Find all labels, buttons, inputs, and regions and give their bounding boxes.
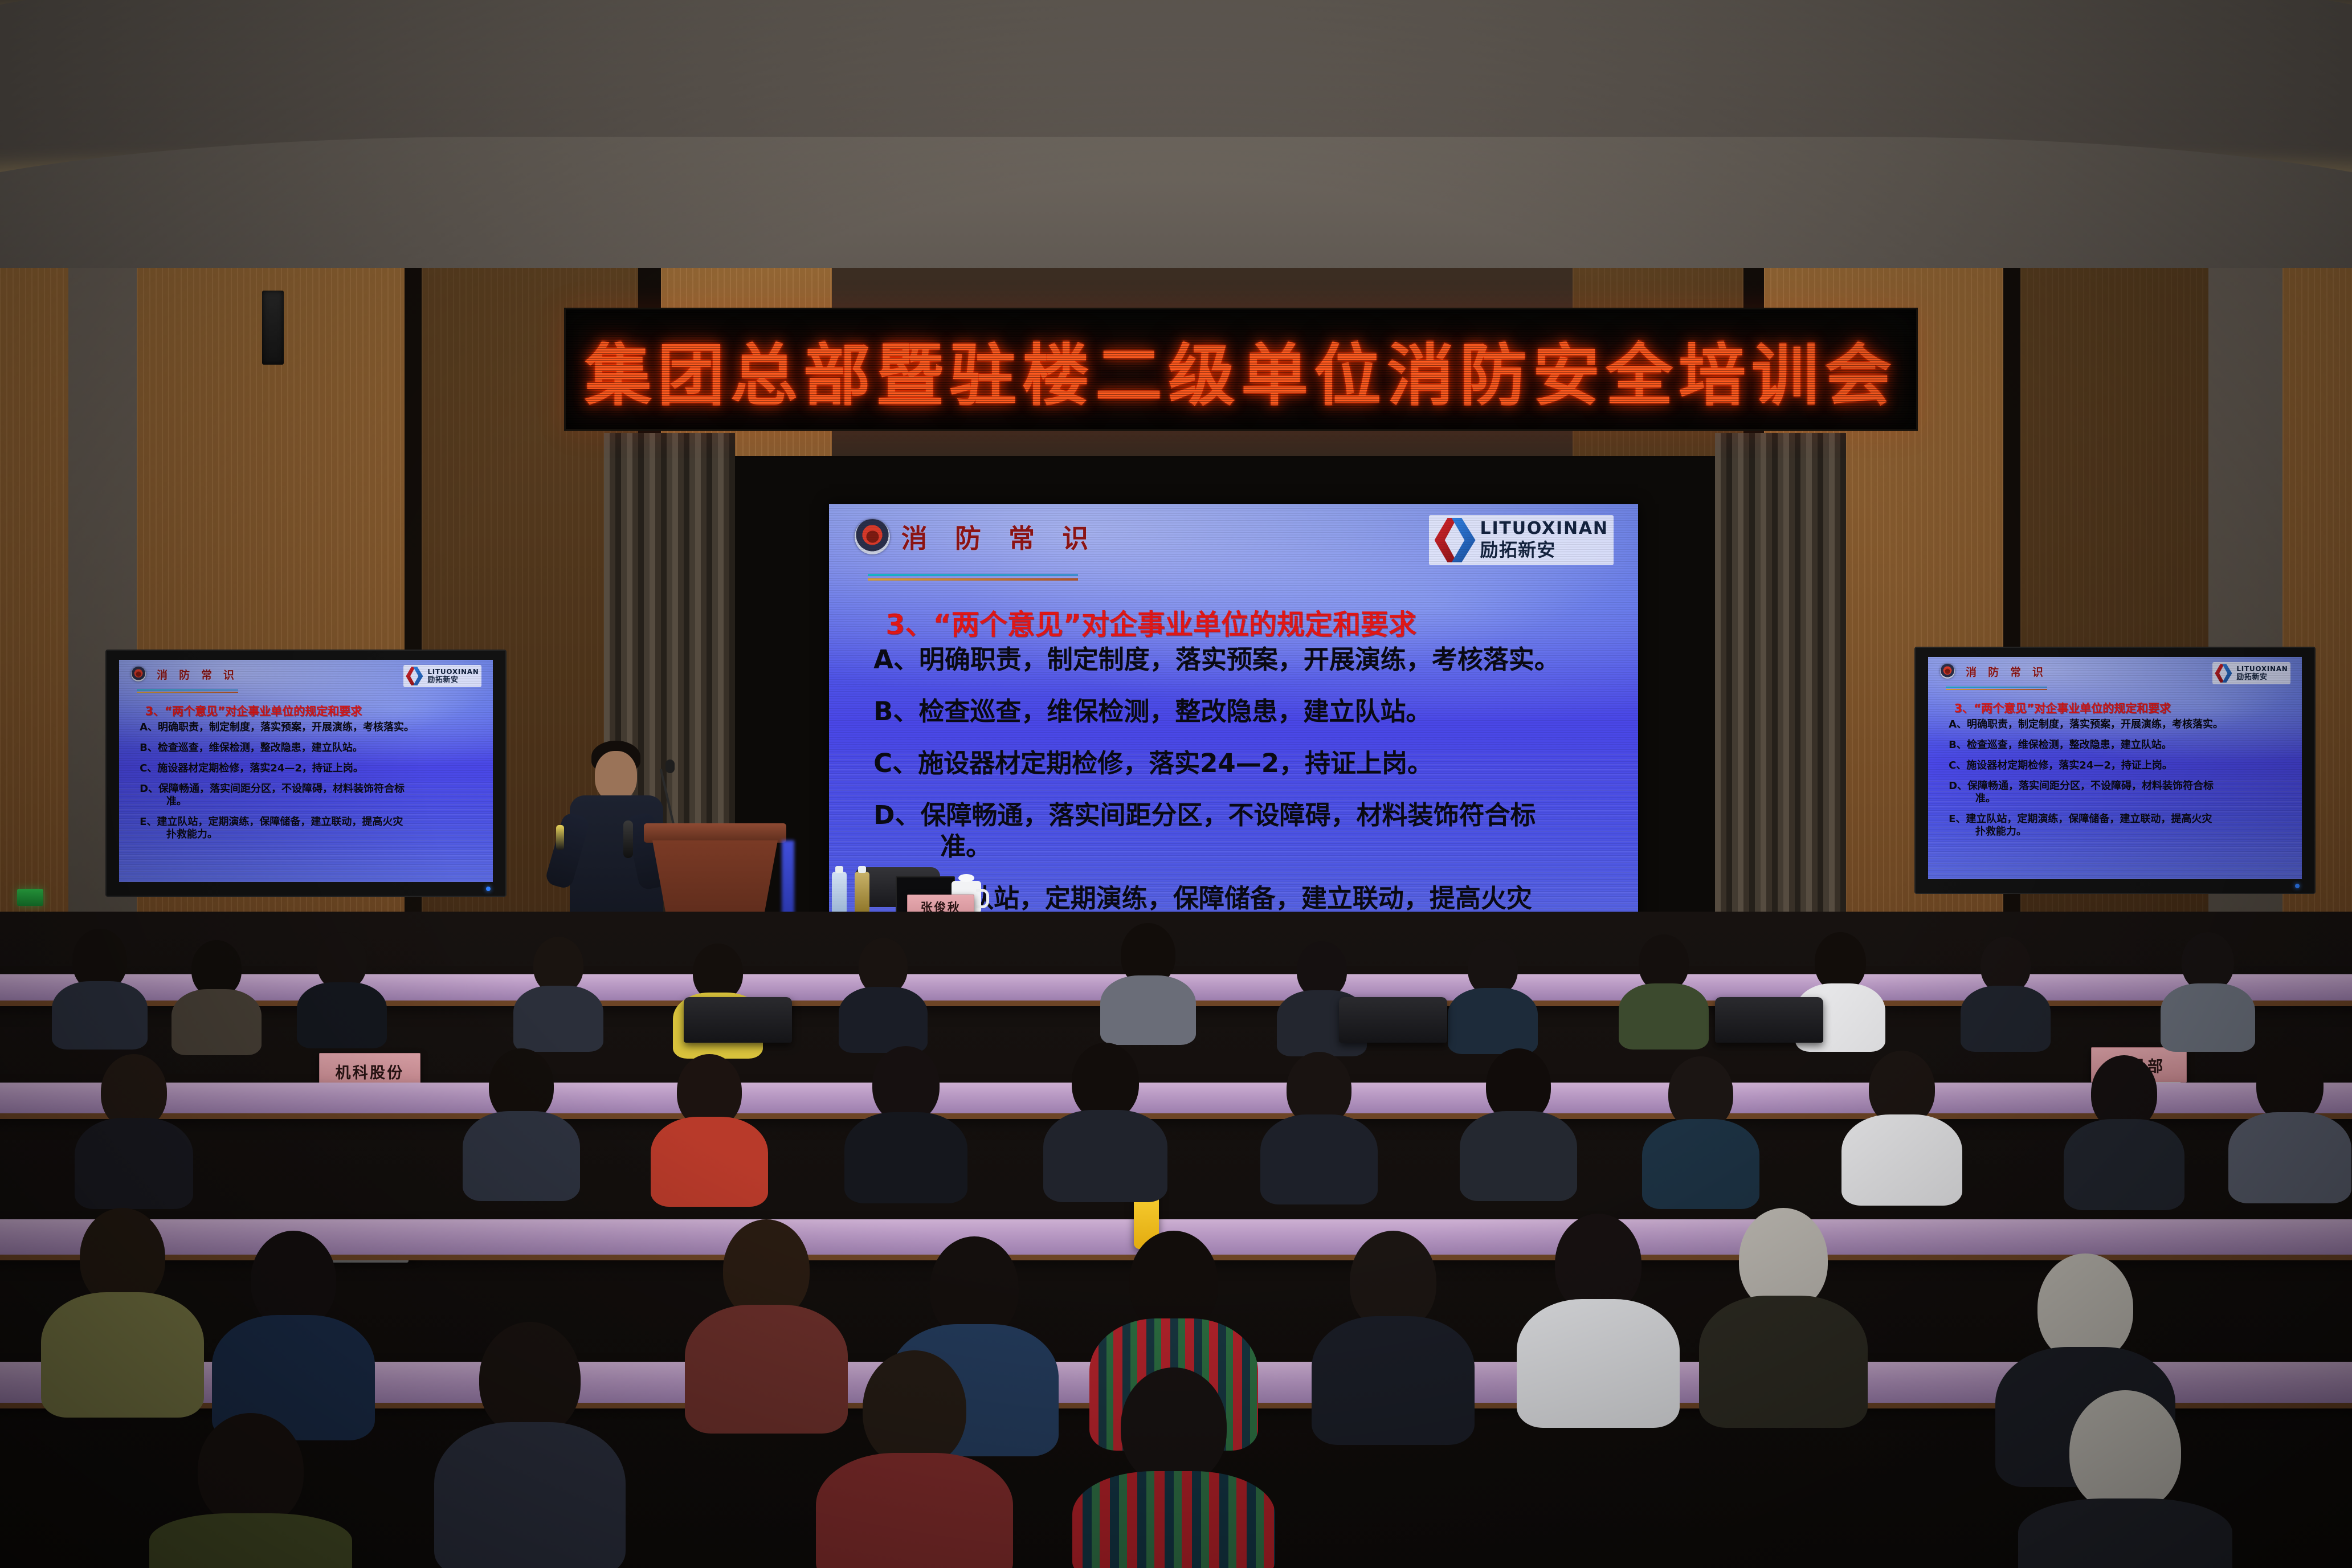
lituoxinan-logo-icon xyxy=(2215,664,2232,683)
slide-title: 3、“两个意见”对企事业单位的规定和要求 xyxy=(885,602,1416,643)
logo-chinese-text: 励拓新安 xyxy=(1480,540,1608,560)
attendee xyxy=(1960,937,2051,1045)
attendee xyxy=(1459,1048,1578,1198)
stage-curtain-right xyxy=(1715,433,1846,974)
attendee xyxy=(2159,932,2256,1046)
bullet-text: 检查巡查，维保检测，整改隐患，建立队站。 xyxy=(1967,739,2172,751)
led-banner: 集团总部暨驻楼二级单位消防安全培训会 xyxy=(564,308,1918,431)
slide-header-title: 消 防 常 识 xyxy=(157,667,238,682)
chair xyxy=(684,997,792,1043)
attendee xyxy=(1641,1056,1761,1206)
bullet-continuation: 扑救能力。 xyxy=(1975,826,2027,838)
attendee xyxy=(1447,939,1538,1047)
attendee xyxy=(1071,1367,1276,1568)
bullet-text: 检查巡查，维保检测，整改隐患，建立队站。 xyxy=(158,742,363,754)
attendee xyxy=(40,1208,205,1413)
attendee xyxy=(1698,1208,1869,1424)
bullet-label: C、 xyxy=(1949,759,1966,771)
led-banner-text: 集团总部暨驻楼二级单位消防安全培训会 xyxy=(585,321,1897,418)
attendee xyxy=(1259,1052,1379,1201)
desk-row xyxy=(0,1083,2352,1113)
attendee xyxy=(171,940,262,1048)
bullet-text: 明确职责，制定制度，落实预案，开展演练，考核落实。 xyxy=(158,721,414,733)
bullet-text: 施设器材定期检修，落实24—2，持证上岗。 xyxy=(1966,759,2173,771)
desk-placard-text: 机科股份 xyxy=(336,1060,405,1083)
chair xyxy=(1339,997,1447,1043)
bullet-label: E、 xyxy=(1949,813,1966,825)
laser-pointer-icon xyxy=(556,825,564,850)
chair xyxy=(1715,997,1823,1043)
gooseneck-microphone-icon xyxy=(665,759,675,773)
bullet-label: B、 xyxy=(873,696,918,726)
bullet-label: E、 xyxy=(140,816,157,828)
attendee xyxy=(2228,1046,2352,1200)
lituoxinan-logo-icon xyxy=(406,667,423,685)
attendee xyxy=(1100,923,1197,1043)
lituoxinan-logo-icon xyxy=(1435,518,1476,562)
bullet-label: C、 xyxy=(873,748,918,778)
attendee xyxy=(462,1048,581,1197)
attendee xyxy=(650,1054,769,1202)
slide-header-title: 消 防 常 识 xyxy=(901,518,1098,556)
audience-area: 机科股份 战投部 群部 xyxy=(0,912,2352,1568)
company-logo: LITUOXINAN 励拓新安 xyxy=(403,665,482,687)
bullet-text: 明确职责，制定制度，落实预案，开展演练，考核落实。 xyxy=(1967,718,2223,730)
handheld-microphone-icon xyxy=(623,820,633,858)
presenter-head xyxy=(595,751,637,801)
slide-left: 消 防 常 识 LITUOXINAN 励拓新安 3、“两个意见”对企事业单位的规… xyxy=(119,660,493,882)
slide-body: A、明确职责，制定制度，落实预案，开展演练，考核落实。 B、检查巡查，维保检测，… xyxy=(1949,720,2287,837)
bullet-text: 建立队站，定期演练，保障储备，建立联动，提高火灾 xyxy=(157,816,403,828)
bullet-label: B、 xyxy=(140,742,158,754)
logo-english-text: LITUOXINAN xyxy=(427,668,479,675)
company-logo: LITUOXINAN 励拓新安 xyxy=(2212,662,2291,684)
bullet-text: 保障畅通，落实间距分区，不设障碍，材料装饰符合标 xyxy=(1967,780,2214,792)
conference-room-scene: 集团总部暨驻楼二级单位消防安全培训会 消 防 常 识 LITUOXINAN 励拓… xyxy=(0,0,2352,1568)
logo-english-text: LITUOXINAN xyxy=(1480,520,1608,537)
bullet-text: 保障畅通，落实间距分区，不设障碍，材料装饰符合标 xyxy=(158,783,405,795)
bullet-label: A、 xyxy=(140,721,158,733)
bullet-label: D、 xyxy=(873,800,920,830)
attendee xyxy=(1516,1214,1681,1424)
attendee xyxy=(148,1413,353,1568)
attendee xyxy=(433,1322,627,1568)
fire-service-emblem-icon xyxy=(1940,664,1955,679)
bullet-text: 保障畅通，落实间距分区，不设障碍，材料装饰符合标 xyxy=(920,800,1536,830)
attendee xyxy=(51,929,148,1043)
tea-jar xyxy=(855,872,869,914)
wall-speaker xyxy=(262,291,284,365)
bullet-text: 建立队站，定期演练，保障储备，建立联动，提高火灾 xyxy=(1966,813,2212,825)
attendee xyxy=(1840,1051,1963,1202)
bullet-label: A、 xyxy=(873,644,919,675)
company-logo: LITUOXINAN 励拓新安 xyxy=(1429,515,1614,565)
slide-body: A、明确职责，制定制度，落实预案，开展演练，考核落实。 B、检查巡查，维保检测，… xyxy=(140,722,478,840)
attendee xyxy=(843,1046,969,1200)
logo-chinese-text: 励拓新安 xyxy=(427,676,479,684)
attendee xyxy=(2017,1390,2233,1568)
bullet-continuation: 准。 xyxy=(1975,793,1996,805)
attendee xyxy=(1310,1231,1476,1442)
monitor-power-led xyxy=(2295,884,2300,888)
desk-row-front xyxy=(0,1113,2352,1143)
bullet-continuation: 准。 xyxy=(166,795,187,807)
bullet-continuation: 准。 xyxy=(940,831,991,861)
attendee xyxy=(211,1231,376,1436)
bullet-label: D、 xyxy=(140,783,158,795)
bullet-text: 施设器材定期检修，落实24—2，持证上岗。 xyxy=(918,748,1433,778)
logo-chinese-text: 励拓新安 xyxy=(2236,673,2288,681)
bullet-label: D、 xyxy=(1949,780,1967,792)
exit-sign-icon xyxy=(17,889,43,906)
attendee xyxy=(513,937,604,1045)
attendee xyxy=(74,1054,194,1202)
slide-title: 3、“两个意见”对企事业单位的规定和要求 xyxy=(1954,699,2171,716)
attendee xyxy=(1043,1043,1168,1199)
bullet-continuation: 扑救能力。 xyxy=(166,828,218,840)
attendee xyxy=(296,932,387,1040)
slide-header-title: 消 防 常 识 xyxy=(1966,664,2047,679)
right-display-monitor[interactable]: 消 防 常 识 LITUOXINAN 励拓新安 3、“两个意见”对企事业单位的规… xyxy=(1914,647,2316,894)
monitor-power-led xyxy=(486,887,491,891)
attendee xyxy=(1618,934,1709,1043)
attendee xyxy=(815,1350,1014,1568)
attendee xyxy=(838,938,929,1046)
bullet-text: 检查巡查，维保检测，整改隐患，建立队站。 xyxy=(918,696,1431,726)
water-bottle xyxy=(832,872,847,914)
fire-service-emblem-icon xyxy=(855,519,890,554)
left-display-monitor[interactable]: 消 防 常 识 LITUOXINAN 励拓新安 3、“两个意见”对企事业单位的规… xyxy=(105,650,507,897)
bullet-text: 明确职责，制定制度，落实预案，开展演练，考核落实。 xyxy=(919,644,1560,675)
slide-right: 消 防 常 识 LITUOXINAN 励拓新安 3、“两个意见”对企事业单位的规… xyxy=(1928,657,2302,879)
attendee xyxy=(2063,1055,2185,1207)
slide-title: 3、“两个意见”对企事业单位的规定和要求 xyxy=(145,702,362,718)
slide-header: 消 防 常 识 xyxy=(855,518,1097,556)
bullet-label: B、 xyxy=(1949,739,1967,751)
logo-english-text: LITUOXINAN xyxy=(2236,665,2288,672)
bullet-label: C、 xyxy=(140,762,157,774)
bullet-label: A、 xyxy=(1949,718,1967,730)
bullet-text: 施设器材定期检修，落实24—2，持证上岗。 xyxy=(157,762,364,774)
fire-service-emblem-icon xyxy=(131,667,146,681)
